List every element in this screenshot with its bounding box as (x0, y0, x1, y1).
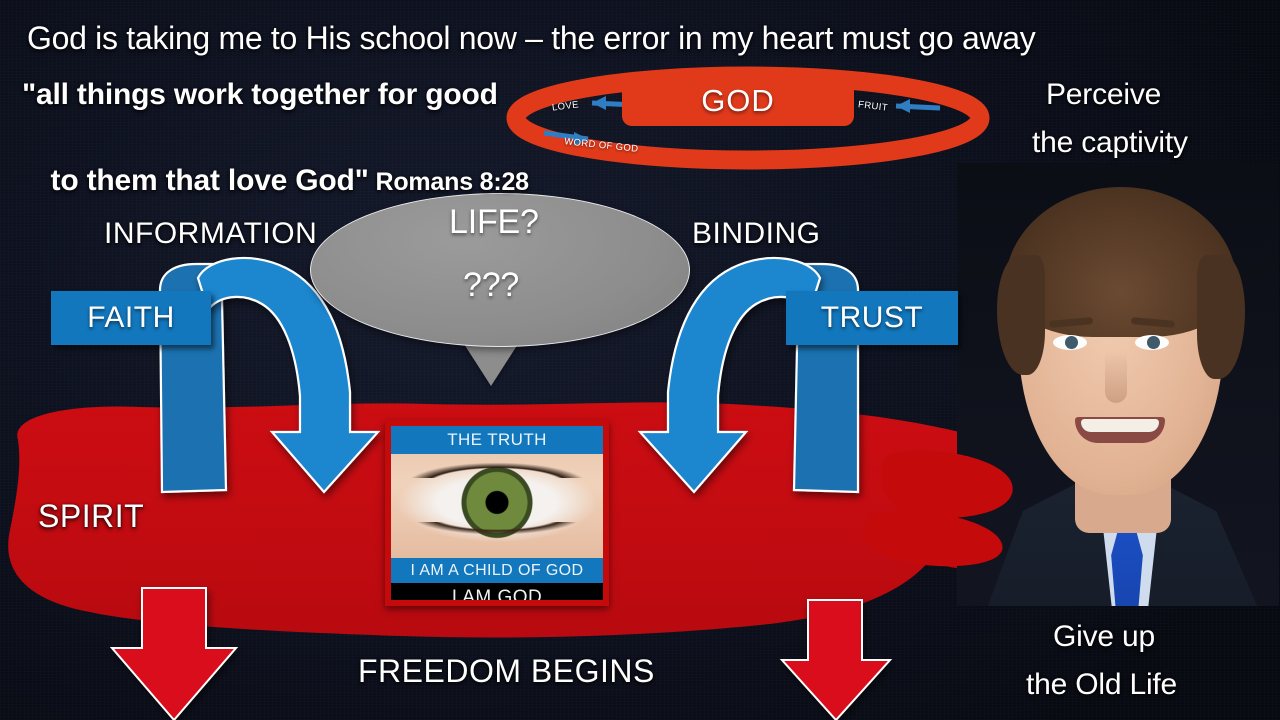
god-box-label: GOD (701, 83, 775, 119)
slide-canvas: LIFE? ??? FAITH TRUST THE TRUTH I AM A C… (0, 0, 1280, 720)
label-spirit: SPIRIT (38, 498, 144, 535)
slide-title: God is taking me to His school now – the… (27, 20, 1035, 57)
god-box: GOD (622, 76, 854, 126)
perceive-line-2: the captivity (1032, 126, 1188, 160)
label-binding: BINDING (692, 217, 821, 251)
giveup-line-1: Give up (1053, 620, 1155, 654)
verse-line-1: "all things work together for good (22, 78, 498, 112)
label-freedom-begins: FREEDOM BEGINS (358, 653, 655, 690)
verse-reference: Romans 8:28 (369, 168, 529, 196)
perceive-line-1: Perceive (1046, 78, 1161, 112)
label-information: INFORMATION (104, 217, 317, 251)
verse-line-2-text: to them that love God" (51, 164, 369, 197)
giveup-line-2: the Old Life (1026, 668, 1177, 702)
